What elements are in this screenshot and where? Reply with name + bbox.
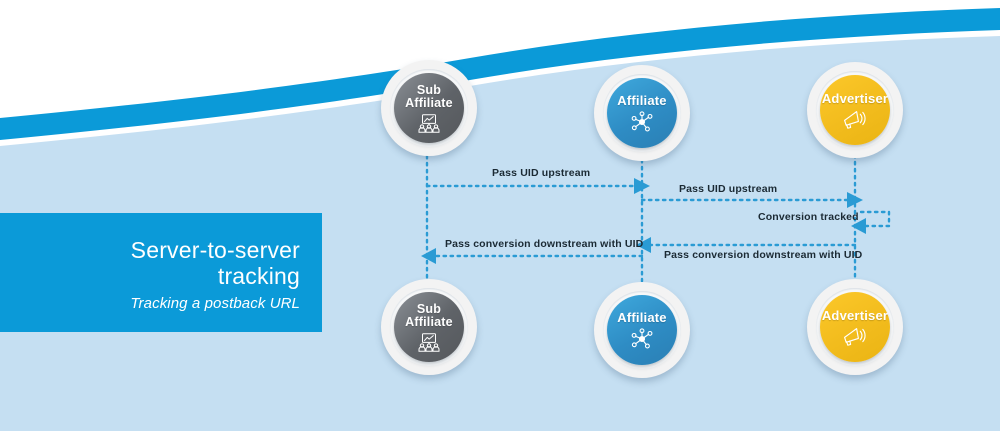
node-bottom-affiliate[interactable]: Affiliate [594,282,690,378]
flow-label-uid-upstream-2: Pass UID upstream [679,183,777,195]
flow-label-conversion-downstream-1: Pass conversion downstream with UID [664,249,862,261]
node-top-advertiser[interactable]: Advertiser [807,62,903,158]
node-label: Affiliate [617,311,666,325]
node-disc: Affiliate [607,295,677,365]
arrowhead-conversion-downstream-2 [421,248,436,264]
node-disc: Advertiser [820,292,890,362]
flow-label-uid-upstream-1: Pass UID upstream [492,167,590,179]
node-disc: Sub Affiliate [394,292,464,362]
node-bottom-advertiser[interactable]: Advertiser [807,279,903,375]
node-label-line1: Sub [417,83,441,97]
node-disc: Advertiser [820,75,890,145]
node-label-line1: Sub [417,302,441,316]
node-label: Advertiser [822,92,888,106]
node-ring: Sub Affiliate [390,288,468,366]
node-label-line2: Affiliate [405,315,453,329]
megaphone-icon [842,109,868,129]
node-ring: Advertiser [816,71,894,149]
network-nodes-icon [630,111,654,133]
node-disc: Sub Affiliate [394,73,464,143]
node-ring: Affiliate [603,74,681,152]
audience-presentation-icon [417,114,441,133]
megaphone-icon [842,326,868,346]
node-top-affiliate[interactable]: Affiliate [594,65,690,161]
node-label: Affiliate [617,94,666,108]
node-ring: Affiliate [603,291,681,369]
node-top-sub-affiliate[interactable]: Sub Affiliate [381,60,477,156]
diagram-canvas: Server-to-server tracking Tracking a pos… [0,0,1000,431]
network-nodes-icon [630,328,654,350]
node-ring: Advertiser [816,288,894,366]
node-bottom-sub-affiliate[interactable]: Sub Affiliate [381,279,477,375]
node-label: Sub Affiliate [405,84,453,111]
audience-presentation-icon [417,333,441,352]
flow-label-conversion-downstream-2: Pass conversion downstream with UID [445,238,643,250]
node-disc: Affiliate [607,78,677,148]
node-ring: Sub Affiliate [390,69,468,147]
node-label-line2: Affiliate [405,96,453,110]
node-label: Advertiser [822,309,888,323]
node-label: Sub Affiliate [405,303,453,330]
flow-label-conversion-tracked: Conversion tracked [758,211,859,223]
